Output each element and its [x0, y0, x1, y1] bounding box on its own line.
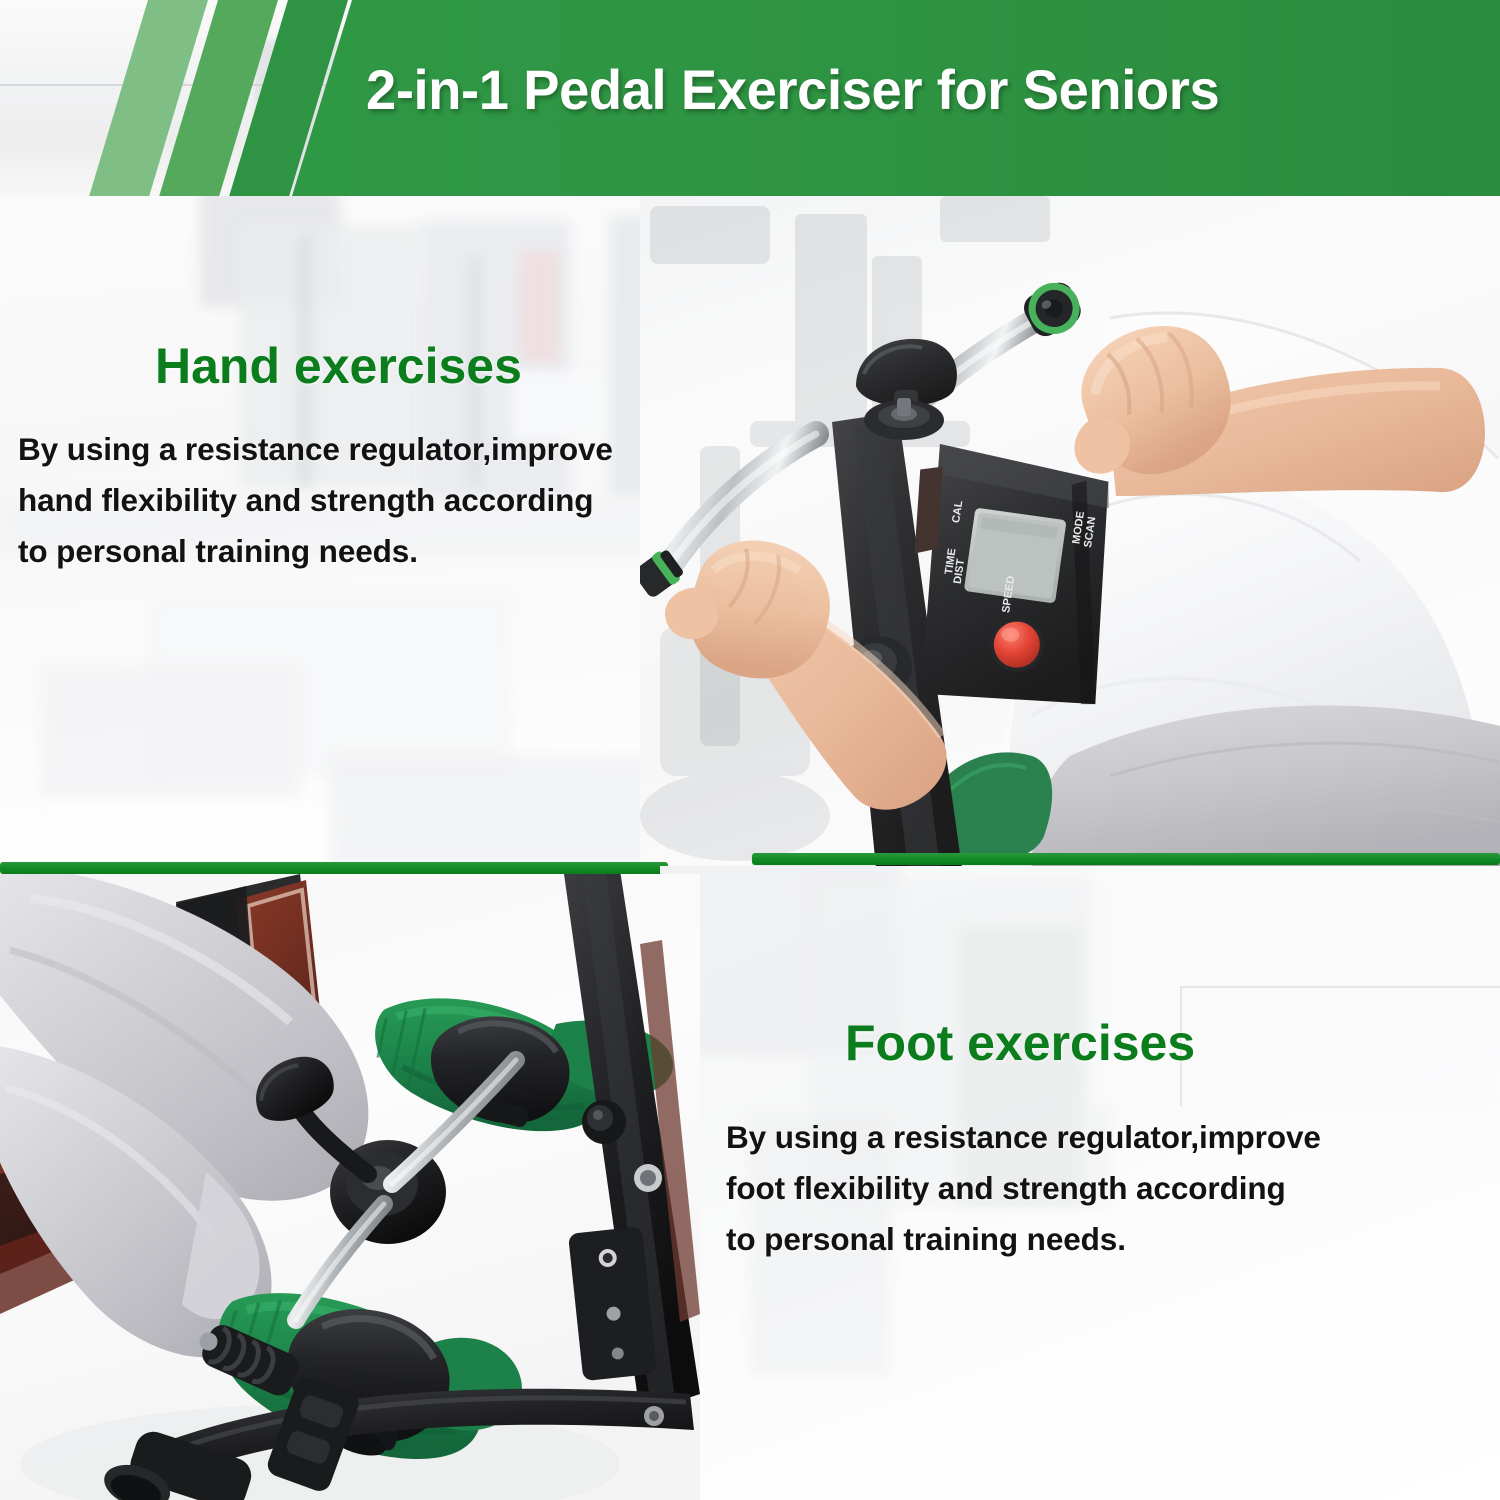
infographic-page: 2-in-1 Pedal Exerciser for Seniors	[0, 0, 1500, 1500]
foot-desc-line-2: foot flexibility and strength according	[726, 1163, 1321, 1214]
foot-exercises-text-group: Foot exercises By using a resistance reg…	[660, 866, 1500, 1500]
hand-exercises-section: CAL TIME DIST MODE SCAN SPEED	[0, 196, 1500, 868]
foot-exercises-heading: Foot exercises	[845, 1018, 1195, 1068]
header-banner: 2-in-1 Pedal Exerciser for Seniors	[0, 0, 1500, 200]
hand-exercises-heading: Hand exercises	[155, 341, 522, 391]
foot-desc-line-1: By using a resistance regulator,improve	[726, 1112, 1321, 1163]
hand-exercise-photo: CAL TIME DIST MODE SCAN SPEED	[640, 196, 1500, 868]
hand-desc-line-1: By using a resistance regulator,improve	[18, 424, 613, 475]
page-title: 2-in-1 Pedal Exerciser for Seniors	[366, 62, 1462, 118]
hand-exercises-description: By using a resistance regulator,improve …	[18, 424, 613, 577]
divider-right	[752, 853, 1500, 865]
hand-desc-line-3: to personal training needs.	[18, 526, 613, 577]
divider-left	[0, 862, 668, 874]
foot-exercise-photo	[0, 874, 700, 1500]
foot-desc-line-3: to personal training needs.	[726, 1214, 1321, 1265]
hand-desc-line-2: hand flexibility and strength according	[18, 475, 613, 526]
foot-exercises-description: By using a resistance regulator,improve …	[726, 1112, 1321, 1265]
